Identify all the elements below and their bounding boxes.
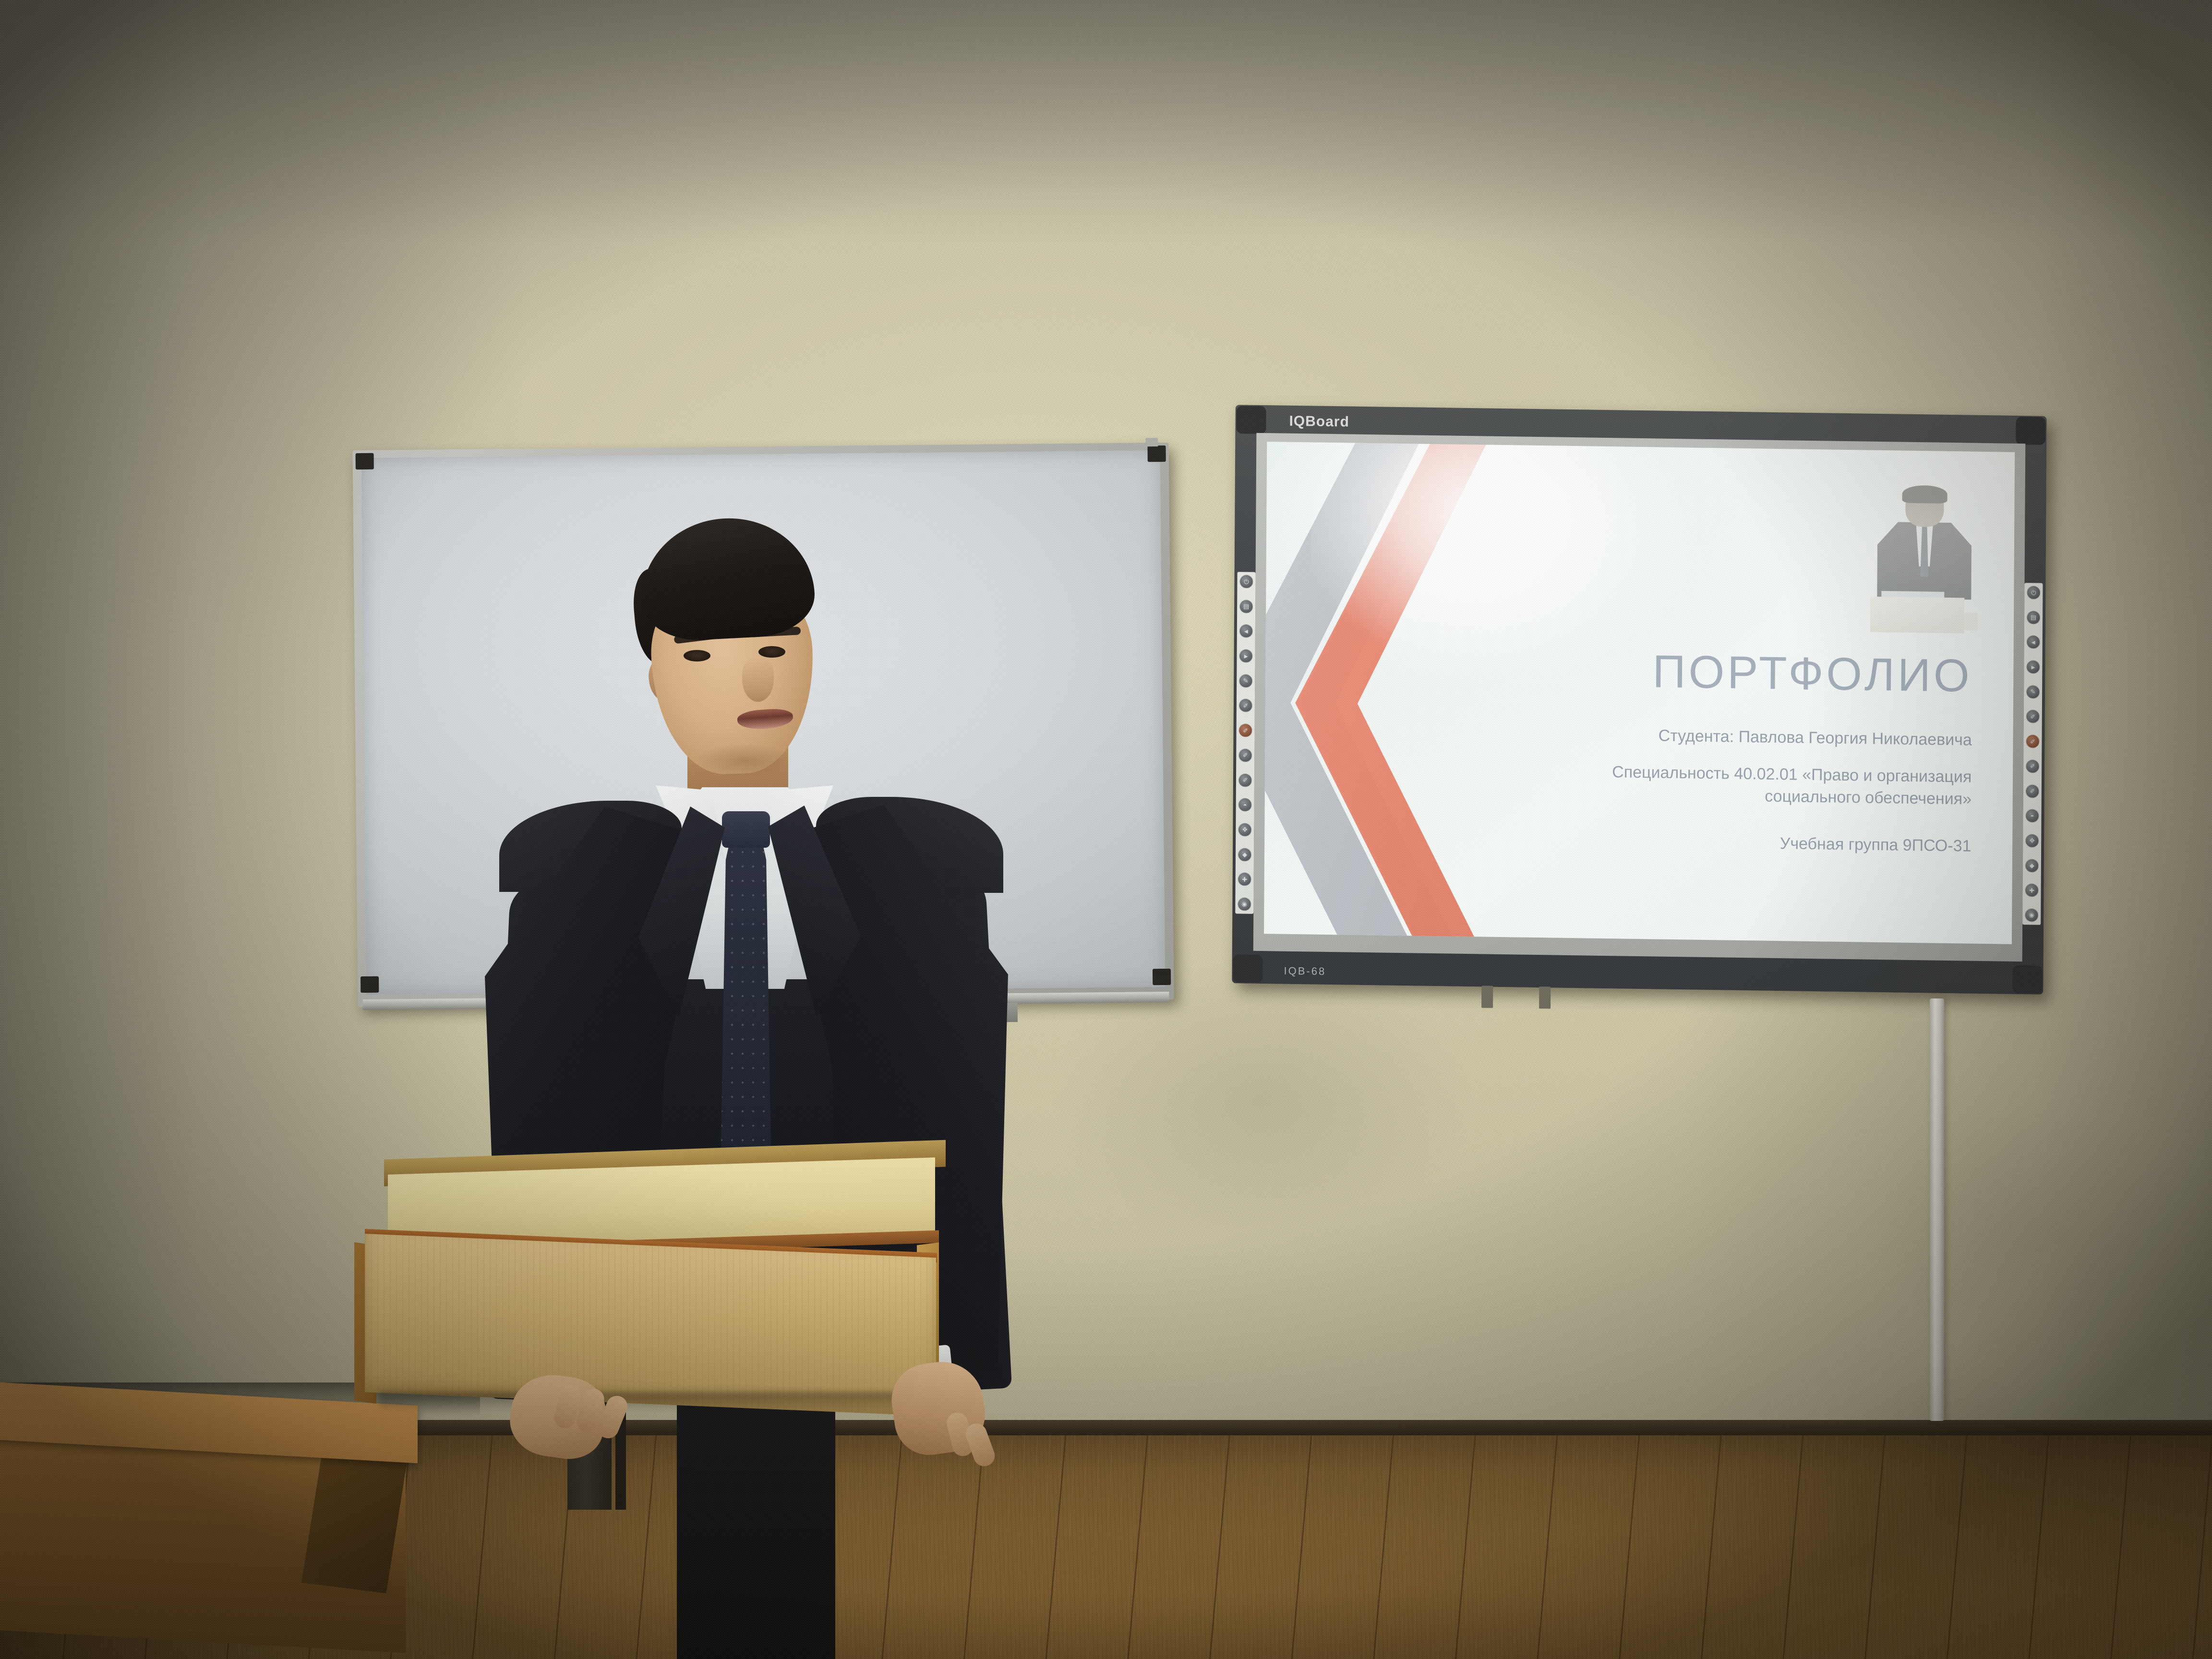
presenter-eye-right: [758, 646, 785, 658]
photo-hair: [1902, 485, 1948, 503]
pen-blue-button[interactable]: ✐: [1239, 699, 1252, 712]
iqboard-inner-panel: ⏻▤◄►✎✐✐✐✐◓✥◆✚◉ ⏻▤◄►✎✐✐✐✐◓✥◆✚◉: [1253, 433, 2025, 962]
classroom-photo-scene: IQBoard IQB-68 ⏻▤◄►✎✐✐✐✐◓✥◆✚◉ ⏻▤◄►✎✐✐✐✐◓…: [0, 0, 2212, 1659]
presenter-eye-left: [684, 650, 710, 661]
slide-canvas: ПОРТФОЛИО Студента: Павлова Георгия Нико…: [1264, 442, 2015, 944]
whiteboard-wall-mount: [1145, 438, 1158, 446]
power-button[interactable]: ⏻: [2027, 586, 2040, 599]
eraser-button[interactable]: ◓: [1238, 798, 1252, 812]
photo-lectern: [1870, 597, 1965, 634]
help-button[interactable]: ◉: [2025, 908, 2038, 922]
pen-green-button[interactable]: ✐: [2026, 759, 2039, 773]
iqboard-left-button-strip[interactable]: ⏻▤◄►✎✐✐✐✐◓✥◆✚◉: [1235, 572, 1255, 914]
shapes-button[interactable]: ◆: [2025, 859, 2039, 872]
iqboard-corner-cap: [2012, 965, 2042, 994]
pen-red-button[interactable]: ✐: [2026, 734, 2039, 748]
highlighter-button[interactable]: ✐: [2026, 784, 2039, 798]
interactive-whiteboard[interactable]: IQBoard IQB-68 ⏻▤◄►✎✐✐✐✐◓✥◆✚◉ ⏻▤◄►✎✐✐✐✐◓…: [1232, 405, 2046, 995]
slide-title: ПОРТФОЛИО: [1652, 649, 1972, 699]
save-button[interactable]: ▤: [2027, 611, 2040, 624]
wooden-lectern[interactable]: [350, 1150, 979, 1495]
lectern-shadow: [379, 1392, 926, 1411]
photo-cup: [1964, 613, 1978, 631]
slide-specialty-line: Специальность 40.02.01 «Право и организа…: [1523, 760, 1972, 811]
pen-black-button[interactable]: ✎: [1239, 674, 1252, 687]
select-button[interactable]: ✥: [2025, 834, 2039, 847]
power-button[interactable]: ⏻: [1239, 575, 1253, 588]
back-button[interactable]: ◄: [2027, 636, 2040, 649]
select-button[interactable]: ✥: [1238, 823, 1251, 836]
pen-green-button[interactable]: ✐: [1238, 748, 1252, 762]
eraser-button[interactable]: ◓: [2025, 809, 2039, 822]
help-button[interactable]: ◉: [1238, 897, 1251, 911]
shapes-button[interactable]: ◆: [1238, 848, 1251, 861]
wall-cable-conduit: [1930, 998, 1944, 1421]
back-button[interactable]: ◄: [1239, 625, 1253, 638]
zoom-in-button[interactable]: ✚: [2025, 883, 2039, 897]
zoom-in-button[interactable]: ✚: [1238, 873, 1251, 886]
whiteboard-corner-cap: [1153, 969, 1171, 985]
slide-student-line: Студента: Павлова Георгия Николаевича: [1523, 723, 1972, 752]
whiteboard-corner-cap: [356, 453, 374, 469]
pen-black-button[interactable]: ✎: [2026, 685, 2040, 698]
iqboard-corner-cap: [1236, 406, 1266, 434]
iqboard-wall-bracket: [1481, 986, 1493, 1008]
iqboard-right-button-strip[interactable]: ⏻▤◄►✎✐✐✐✐◓✥◆✚◉: [2022, 583, 2043, 925]
iqboard-corner-cap: [1233, 954, 1262, 983]
presenter-chin-shadow: [696, 744, 792, 778]
lectern-wood-grain: [365, 1234, 936, 1416]
presenter-hair: [638, 514, 817, 643]
iqboard-corner-cap: [2016, 417, 2045, 445]
highlighter-button[interactable]: ✐: [1238, 773, 1252, 787]
forward-button[interactable]: ►: [1239, 649, 1252, 662]
slide-presenter-photo: [1868, 484, 1981, 634]
whiteboard-corner-cap: [1147, 445, 1166, 462]
forward-button[interactable]: ►: [2026, 660, 2040, 673]
whiteboard-corner-cap: [361, 976, 379, 993]
iqboard-wall-bracket: [1539, 986, 1551, 1009]
iqboard-brand-label: IQBoard: [1289, 413, 1349, 431]
pen-red-button[interactable]: ✐: [1239, 723, 1252, 737]
presenter-nose: [742, 657, 774, 702]
iqboard-model-label: IQB-68: [1284, 965, 1326, 978]
slide-group-line: Учебная группа 9ПСО-31: [1523, 829, 1972, 857]
projected-slide[interactable]: ПОРТФОЛИО Студента: Павлова Георгия Нико…: [1264, 442, 2015, 944]
pen-blue-button[interactable]: ✐: [2026, 710, 2040, 723]
presenter-necktie-knot: [722, 811, 770, 848]
save-button[interactable]: ▤: [1239, 600, 1253, 613]
